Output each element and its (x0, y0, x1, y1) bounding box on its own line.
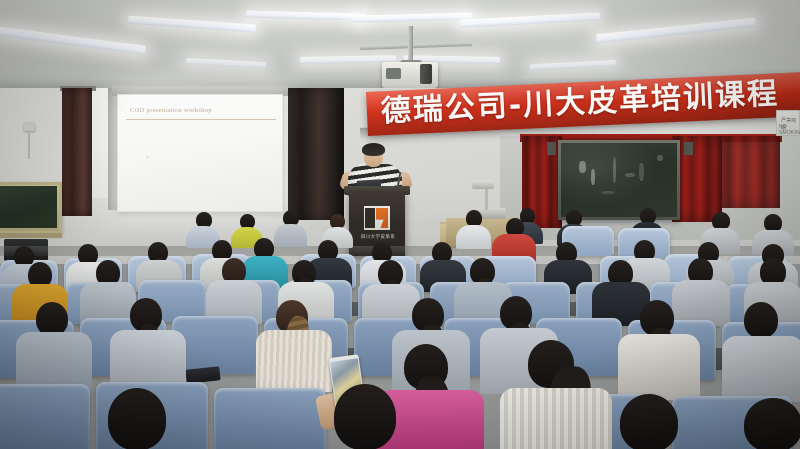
projector-lens (386, 68, 401, 79)
slide-title: COO presentation workshop (130, 107, 212, 114)
lecture-hall-photo: COO presentation workshop + 德瑞公司-川大皮革培训课… (0, 0, 800, 449)
attendee-torso (618, 334, 700, 400)
attendee-torso (456, 225, 491, 249)
projector-vent (420, 64, 432, 84)
lecture-seat[interactable] (214, 388, 326, 449)
attendee-torso-striped (500, 388, 612, 449)
audience-seating (0, 198, 800, 449)
no-smoking-sign-line2: NO SMOKING (779, 124, 800, 136)
slide-mark: + (146, 155, 150, 161)
presenter-hair (362, 143, 385, 156)
attendee-head-foreground (334, 384, 396, 449)
attendee-head-foreground (108, 388, 166, 449)
dark-window-curtain (62, 88, 92, 216)
attendee-torso (722, 336, 800, 402)
no-smoking-sign: 严禁吸烟 NO SMOKING (776, 110, 800, 136)
stage-speaker-box (684, 142, 693, 155)
attendee-head (744, 302, 778, 338)
screen-side-edge (108, 88, 117, 210)
wall-speaker (24, 122, 35, 131)
slide-divider (126, 119, 276, 120)
document-camera-head (472, 180, 494, 189)
projection-screen: COO presentation workshop + (117, 94, 283, 212)
attendee-head-foreground (620, 394, 678, 449)
attendee-head (36, 302, 68, 336)
lecture-seat[interactable] (0, 384, 90, 449)
attendee-torso (274, 224, 307, 247)
attendee-torso-striped (256, 330, 332, 392)
wall-speaker-bracket (28, 131, 30, 159)
attendee-head-foreground (744, 398, 800, 449)
stage-speaker-box (547, 142, 556, 155)
